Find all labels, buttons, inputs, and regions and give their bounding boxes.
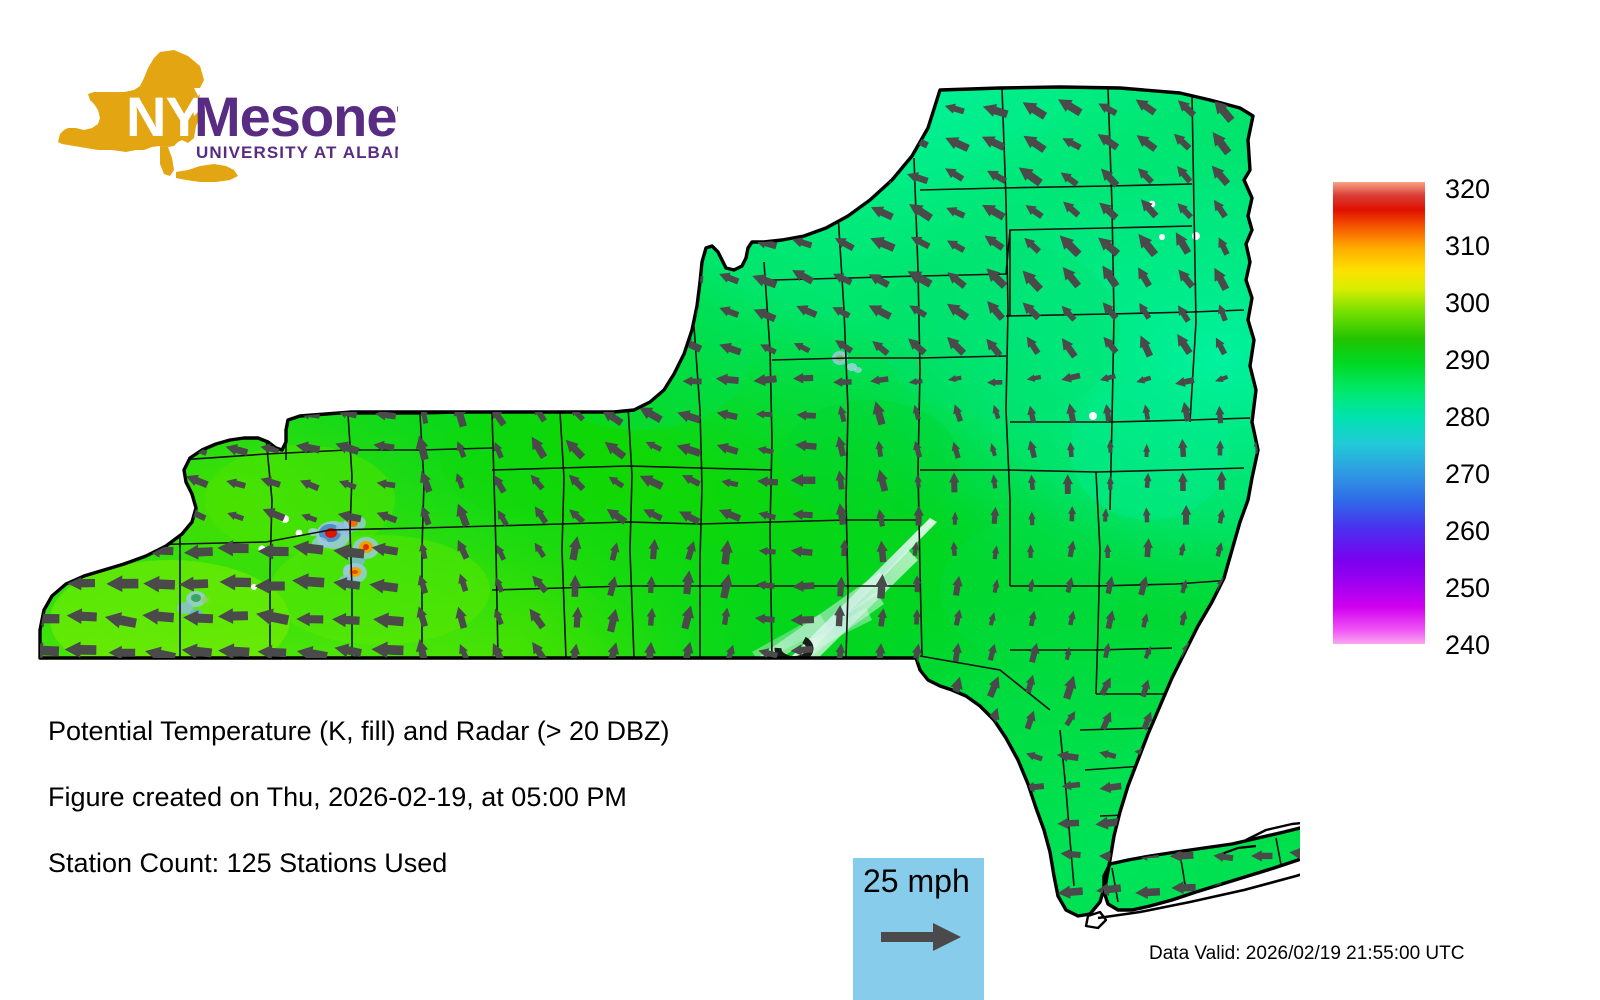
colorbar-tick-310: 310	[1445, 233, 1490, 260]
wind-arrow	[336, 101, 360, 114]
wind-arrow	[640, 674, 667, 695]
colorbar-tick-240: 240	[1445, 632, 1490, 659]
colorbar-tick-280: 280	[1445, 404, 1490, 431]
wind-arrow	[985, 851, 1007, 863]
wind-arrow	[450, 916, 472, 929]
wind-arrow	[1217, 607, 1230, 625]
wind-arrow	[792, 136, 815, 149]
wind-arrow	[225, 169, 245, 180]
wind-arrow	[71, 269, 97, 287]
wind-arrow	[33, 170, 55, 183]
wind-arrow	[33, 506, 59, 527]
wind-arrow	[142, 678, 172, 695]
wind-arrow	[1253, 677, 1271, 699]
wind-arrow	[641, 101, 667, 118]
wind-arrow	[794, 680, 812, 692]
colorbar-tick-290: 290	[1445, 347, 1490, 374]
wind-arrow	[827, 917, 852, 930]
wind-arrow	[829, 200, 852, 215]
wind-arrow	[488, 134, 513, 149]
wind-arrow	[183, 238, 208, 252]
wind-arrow	[180, 679, 207, 693]
wind-arrow	[108, 137, 130, 150]
wind-arrow	[146, 271, 169, 285]
wind-arrow	[792, 916, 818, 933]
wind-arrow	[148, 472, 172, 489]
wind-arrow	[413, 203, 438, 219]
wind-arrow	[948, 707, 965, 730]
wind-arrow	[72, 238, 96, 252]
wind-arrow	[411, 371, 436, 385]
wind-arrow	[603, 306, 624, 318]
wind-arrow	[601, 914, 624, 930]
wind-arrow	[184, 170, 211, 184]
wind-arrow	[1254, 575, 1267, 593]
wind-arrow	[262, 101, 285, 113]
wind-arrow	[677, 677, 700, 694]
caption-block: Potential Temperature (K, fill) and Rada…	[48, 718, 948, 916]
wind-arrow	[831, 99, 857, 114]
wind-arrow	[33, 918, 55, 935]
wind-arrow	[1251, 301, 1268, 323]
wind-arrow	[335, 237, 362, 253]
wind-arrow	[410, 336, 435, 352]
wind-arrow	[33, 102, 56, 116]
wind-arrow	[150, 102, 171, 114]
wind-arrow	[226, 138, 247, 149]
wind-arrow	[525, 270, 551, 285]
wind-arrow	[106, 269, 133, 287]
wind-arrow	[1289, 506, 1300, 527]
wind-arrow	[641, 918, 661, 932]
wind-arrow	[35, 239, 58, 253]
wind-arrow	[1256, 508, 1265, 523]
colorbar-tick-250: 250	[1445, 575, 1490, 602]
wind-arrow	[67, 302, 93, 320]
wind-arrow	[415, 305, 435, 316]
wind-arrow	[1211, 671, 1232, 698]
wind-arrow	[1175, 679, 1189, 697]
wind-arrow	[1249, 267, 1267, 289]
wind-arrow	[148, 342, 168, 355]
wind-arrow	[451, 168, 475, 183]
wind-arrow	[1252, 200, 1270, 222]
wind-arrow	[486, 98, 509, 115]
wind-arrow	[640, 305, 662, 318]
wind-arrow	[71, 508, 95, 525]
wind-arrow	[1248, 707, 1267, 728]
wind-arrow	[222, 340, 241, 353]
wind-arrow	[68, 678, 97, 695]
wind-arrow	[108, 508, 129, 524]
wind-arrow	[643, 201, 665, 216]
wind-arrow	[526, 100, 548, 113]
wind-arrow	[982, 815, 1007, 830]
wind-arrow	[1058, 919, 1078, 931]
wind-arrow	[263, 337, 284, 351]
wind-arrow	[298, 915, 319, 928]
wind-arrow	[1245, 782, 1271, 796]
wind-arrow	[606, 376, 624, 387]
wind-arrow	[754, 100, 777, 112]
wind-arrow	[143, 368, 170, 388]
wind-arrow	[523, 202, 549, 217]
wind-arrow	[717, 920, 737, 931]
wind-arrow	[1214, 708, 1233, 731]
wind-arrow	[298, 340, 323, 355]
wind-arrow	[982, 746, 1004, 761]
wind-arrow	[261, 170, 281, 180]
wind-arrow	[70, 169, 94, 183]
wind-arrow	[371, 914, 397, 932]
wind-arrow	[1252, 642, 1265, 661]
wind-arrow	[33, 406, 53, 422]
wind-arrow	[1293, 438, 1300, 459]
wind-arrow	[947, 816, 968, 828]
wind-arrow	[566, 677, 586, 691]
wind-arrow	[1022, 849, 1044, 860]
wind-arrow	[981, 886, 1002, 897]
wind-arrow	[834, 677, 847, 698]
wind-arrow	[1285, 166, 1300, 190]
caption-title: Potential Temperature (K, fill) and Rada…	[48, 718, 948, 745]
wind-arrow	[67, 543, 98, 559]
wind-arrow	[1257, 541, 1265, 556]
wind-arrow	[413, 134, 437, 147]
wind-arrow	[371, 677, 401, 696]
wind-arrow	[1288, 673, 1300, 699]
wind-arrow	[1022, 919, 1047, 933]
wind-arrow	[1169, 746, 1196, 765]
wind-arrow	[530, 240, 550, 251]
wind-arrow	[527, 372, 549, 386]
wind-arrow	[1254, 406, 1264, 423]
wind-arrow	[223, 238, 248, 253]
wind-arrow	[603, 169, 626, 182]
wind-arrow	[640, 168, 664, 185]
wind-arrow	[180, 338, 208, 358]
wind-arrow	[339, 274, 359, 284]
wind-arrow	[66, 99, 93, 115]
wind-arrow	[73, 372, 95, 389]
wind-arrow	[792, 205, 813, 220]
wind-arrow	[145, 407, 172, 426]
wind-arrow	[563, 304, 589, 318]
wind-arrow	[373, 206, 394, 218]
wind-arrow	[148, 304, 169, 317]
wind-arrow	[565, 343, 583, 352]
wind-arrow	[1256, 611, 1268, 626]
wind-arrow	[1210, 819, 1230, 829]
wind-arrow	[488, 343, 508, 354]
wind-arrow	[301, 239, 324, 252]
wind-arrow	[111, 374, 130, 388]
wind-arrow	[335, 305, 359, 321]
wind-arrow	[185, 303, 209, 319]
wind-arrow	[31, 370, 53, 386]
wind-arrow	[1209, 783, 1231, 795]
wind-arrow	[453, 676, 474, 693]
wind-arrow	[605, 342, 627, 354]
wind-arrow	[563, 917, 586, 933]
caption-created: Figure created on Thu, 2026-02-19, at 05…	[48, 784, 948, 811]
wind-arrow	[108, 172, 130, 186]
wind-arrow	[1295, 476, 1300, 492]
wind-arrow	[681, 170, 702, 181]
wind-arrow	[377, 375, 398, 387]
wind-arrow	[1214, 643, 1226, 659]
wind-arrow	[223, 203, 247, 216]
wind-arrow	[258, 272, 283, 288]
wind-arrow	[224, 918, 249, 934]
wind-arrow	[981, 781, 1004, 794]
wind-arrow	[32, 302, 54, 316]
wind-arrow	[1289, 265, 1300, 290]
wind-arrow	[185, 135, 208, 147]
wind-arrow	[640, 238, 665, 253]
wind-arrow	[372, 98, 401, 118]
wind-arrow	[259, 408, 284, 426]
wind-arrow	[410, 98, 436, 113]
wind-arrow	[713, 99, 739, 113]
wind-arrow	[297, 171, 320, 185]
wind-arrow	[448, 102, 474, 119]
wind-arrow	[29, 539, 60, 556]
wind-arrow	[565, 135, 592, 154]
colorbar-tick-300: 300	[1445, 290, 1490, 317]
wind-arrow	[755, 677, 776, 692]
wind-arrow	[602, 679, 627, 697]
wind-arrow	[337, 137, 360, 150]
wind-arrow	[757, 170, 778, 185]
wind-arrow	[1288, 710, 1300, 733]
wind-arrow	[450, 235, 474, 249]
wind-arrow	[337, 339, 361, 354]
wind-arrow	[374, 338, 398, 354]
wind-arrow	[491, 205, 513, 217]
wind-arrow	[107, 916, 135, 934]
colorbar-tick-260: 260	[1445, 518, 1490, 545]
wind-arrow	[716, 171, 740, 185]
wind-arrow	[489, 170, 511, 182]
wind-arrow	[566, 238, 587, 249]
wind-arrow	[492, 677, 512, 691]
wind-arrow	[222, 304, 244, 317]
wind-arrow	[375, 236, 399, 249]
wind-arrow	[28, 577, 58, 593]
wind-arrow	[222, 101, 246, 116]
wind-arrow	[216, 677, 247, 694]
wind-arrow	[333, 165, 361, 182]
wind-arrow	[409, 676, 436, 697]
wind-arrow	[488, 240, 510, 252]
wind-arrow	[565, 271, 587, 283]
wind-arrow	[641, 337, 666, 351]
wind-arrow	[718, 202, 740, 216]
wind-arrow	[145, 915, 170, 932]
wind-arrow	[604, 134, 625, 147]
wind-arrow	[296, 99, 321, 113]
wind-arrow	[74, 408, 96, 423]
wind-arrow	[28, 673, 60, 693]
wind-arrow	[602, 204, 627, 218]
wind-arrow	[447, 337, 472, 353]
colorbar-gradient	[1333, 182, 1425, 644]
wind-arrow	[676, 204, 702, 221]
wind-arrow	[561, 100, 588, 116]
wind-arrow	[32, 440, 55, 459]
wind-arrow	[829, 165, 854, 183]
wind-arrow	[1287, 97, 1300, 122]
colorbar: 320 310 300 290 280 270 260 250 240	[1333, 176, 1573, 656]
wind-arrow	[102, 675, 134, 696]
wind-arrow	[110, 338, 129, 352]
wind-arrow	[1286, 128, 1300, 152]
wind-arrow	[223, 374, 242, 386]
caption-station-count: Station Count: 125 Stations Used	[48, 850, 948, 877]
wind-arrow	[562, 374, 588, 391]
wind-arrow	[30, 202, 54, 215]
wind-arrow	[261, 374, 282, 389]
wind-arrow	[185, 405, 204, 418]
wind-arrow	[339, 371, 363, 387]
wind-arrow	[1292, 575, 1300, 595]
wind-arrow	[791, 167, 814, 182]
wind-arrow	[1294, 645, 1300, 661]
wind-arrow	[526, 917, 550, 931]
wind-arrow	[375, 137, 396, 148]
wind-arrow	[373, 171, 395, 183]
wind-arrow	[300, 137, 321, 149]
wind-arrow	[985, 918, 1004, 928]
wind-speed-legend: 25 mph	[853, 858, 984, 1000]
wind-arrow	[682, 919, 702, 931]
wind-arrow	[186, 919, 206, 933]
wind-arrow	[606, 275, 627, 286]
wind-arrow	[257, 675, 286, 692]
wind-arrow	[301, 374, 322, 389]
wind-arrow	[35, 269, 56, 282]
wind-arrow	[183, 373, 205, 387]
wind-arrow	[450, 134, 471, 147]
wind-arrow	[525, 342, 546, 353]
wind-arrow	[1019, 884, 1044, 899]
wind-arrow	[261, 205, 284, 218]
wind-arrow	[455, 374, 473, 385]
wind-arrow	[111, 236, 134, 251]
wind-arrow	[680, 102, 702, 114]
arrow-right-icon	[881, 920, 963, 954]
wind-arrow	[1019, 817, 1041, 828]
wind-arrow	[1284, 885, 1300, 899]
wind-arrow	[1211, 746, 1236, 763]
wind-arrow	[601, 102, 625, 119]
wind-arrow	[1285, 783, 1300, 795]
wind-arrow	[147, 171, 169, 183]
wind-arrow	[493, 375, 512, 387]
wind-legend-label: 25 mph	[863, 864, 970, 898]
wind-arrow	[637, 134, 664, 153]
wind-arrow	[108, 200, 133, 216]
wind-arrow	[566, 207, 587, 218]
colorbar-tick-270: 270	[1445, 461, 1490, 488]
wind-arrow	[301, 271, 321, 283]
wind-arrow	[641, 374, 666, 387]
wind-arrow	[1212, 919, 1235, 932]
data-valid-timestamp: Data Valid: 2026/02/19 21:55:00 UTC	[1149, 944, 1464, 963]
wind-arrow	[751, 135, 776, 149]
wind-arrow	[907, 102, 929, 117]
wind-arrow	[1292, 234, 1300, 256]
wind-arrow	[863, 131, 892, 150]
wind-arrow	[449, 270, 472, 284]
wind-arrow	[714, 679, 738, 696]
wind-arrow	[526, 676, 547, 693]
wind-arrow	[1289, 373, 1300, 387]
wind-arrow	[526, 136, 552, 153]
wind-arrow	[750, 202, 776, 218]
wind-arrow	[680, 238, 700, 250]
wind-arrow	[70, 335, 92, 352]
wind-arrow	[488, 270, 514, 283]
wind-arrow	[143, 134, 170, 150]
wind-arrow	[1250, 161, 1274, 189]
wind-arrow	[1291, 336, 1300, 361]
wind-arrow	[486, 305, 510, 319]
wind-arrow	[109, 104, 132, 117]
wind-arrow	[529, 305, 549, 316]
wind-arrow	[1289, 303, 1300, 322]
wind-arrow	[374, 274, 393, 284]
wind-arrow	[450, 204, 475, 217]
wind-arrow	[109, 471, 135, 489]
wind-arrow	[1138, 921, 1157, 932]
wind-arrow	[411, 916, 435, 932]
wind-arrow	[261, 236, 281, 247]
wind-arrow	[150, 442, 170, 456]
wind-arrow	[68, 441, 92, 459]
wind-arrow	[450, 306, 473, 319]
wind-arrow	[752, 918, 777, 934]
wind-arrow	[145, 506, 171, 525]
wind-arrow	[297, 677, 327, 693]
wind-arrow	[415, 239, 436, 252]
wind-arrow	[297, 302, 323, 320]
wind-arrow	[564, 170, 589, 185]
wind-arrow	[338, 204, 363, 217]
wind-arrow	[145, 204, 168, 217]
wind-arrow	[70, 134, 96, 148]
wind-arrow	[872, 671, 891, 697]
wind-arrow	[1293, 544, 1300, 560]
wind-arrow	[411, 272, 433, 284]
wind-arrow	[1175, 781, 1199, 794]
wind-arrow	[70, 204, 92, 218]
colorbar-tick-320: 320	[1445, 176, 1490, 203]
wind-arrow	[1249, 746, 1270, 759]
wind-arrow	[1171, 706, 1193, 731]
wind-arrow	[1287, 917, 1300, 930]
wind-arrow	[105, 302, 130, 318]
wind-arrow	[1293, 403, 1300, 422]
wind-arrow	[222, 406, 249, 425]
wind-arrow	[1247, 918, 1274, 934]
wind-arrow	[679, 134, 702, 148]
wind-arrow	[1295, 608, 1300, 623]
wind-arrow	[602, 236, 626, 250]
wind-arrow	[524, 168, 552, 184]
wind-arrow	[377, 310, 394, 319]
